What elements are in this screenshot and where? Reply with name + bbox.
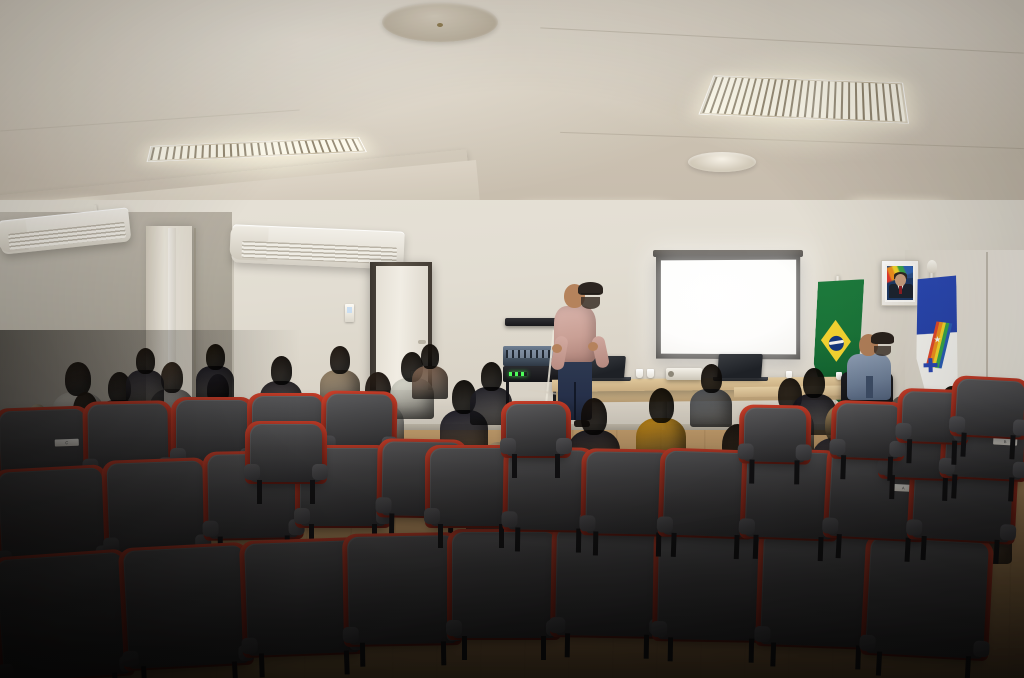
auditorium-seat[interactable] — [955, 378, 1024, 437]
floor-shadow — [0, 430, 1024, 678]
auditorium-scene: CAB — [0, 0, 1024, 678]
